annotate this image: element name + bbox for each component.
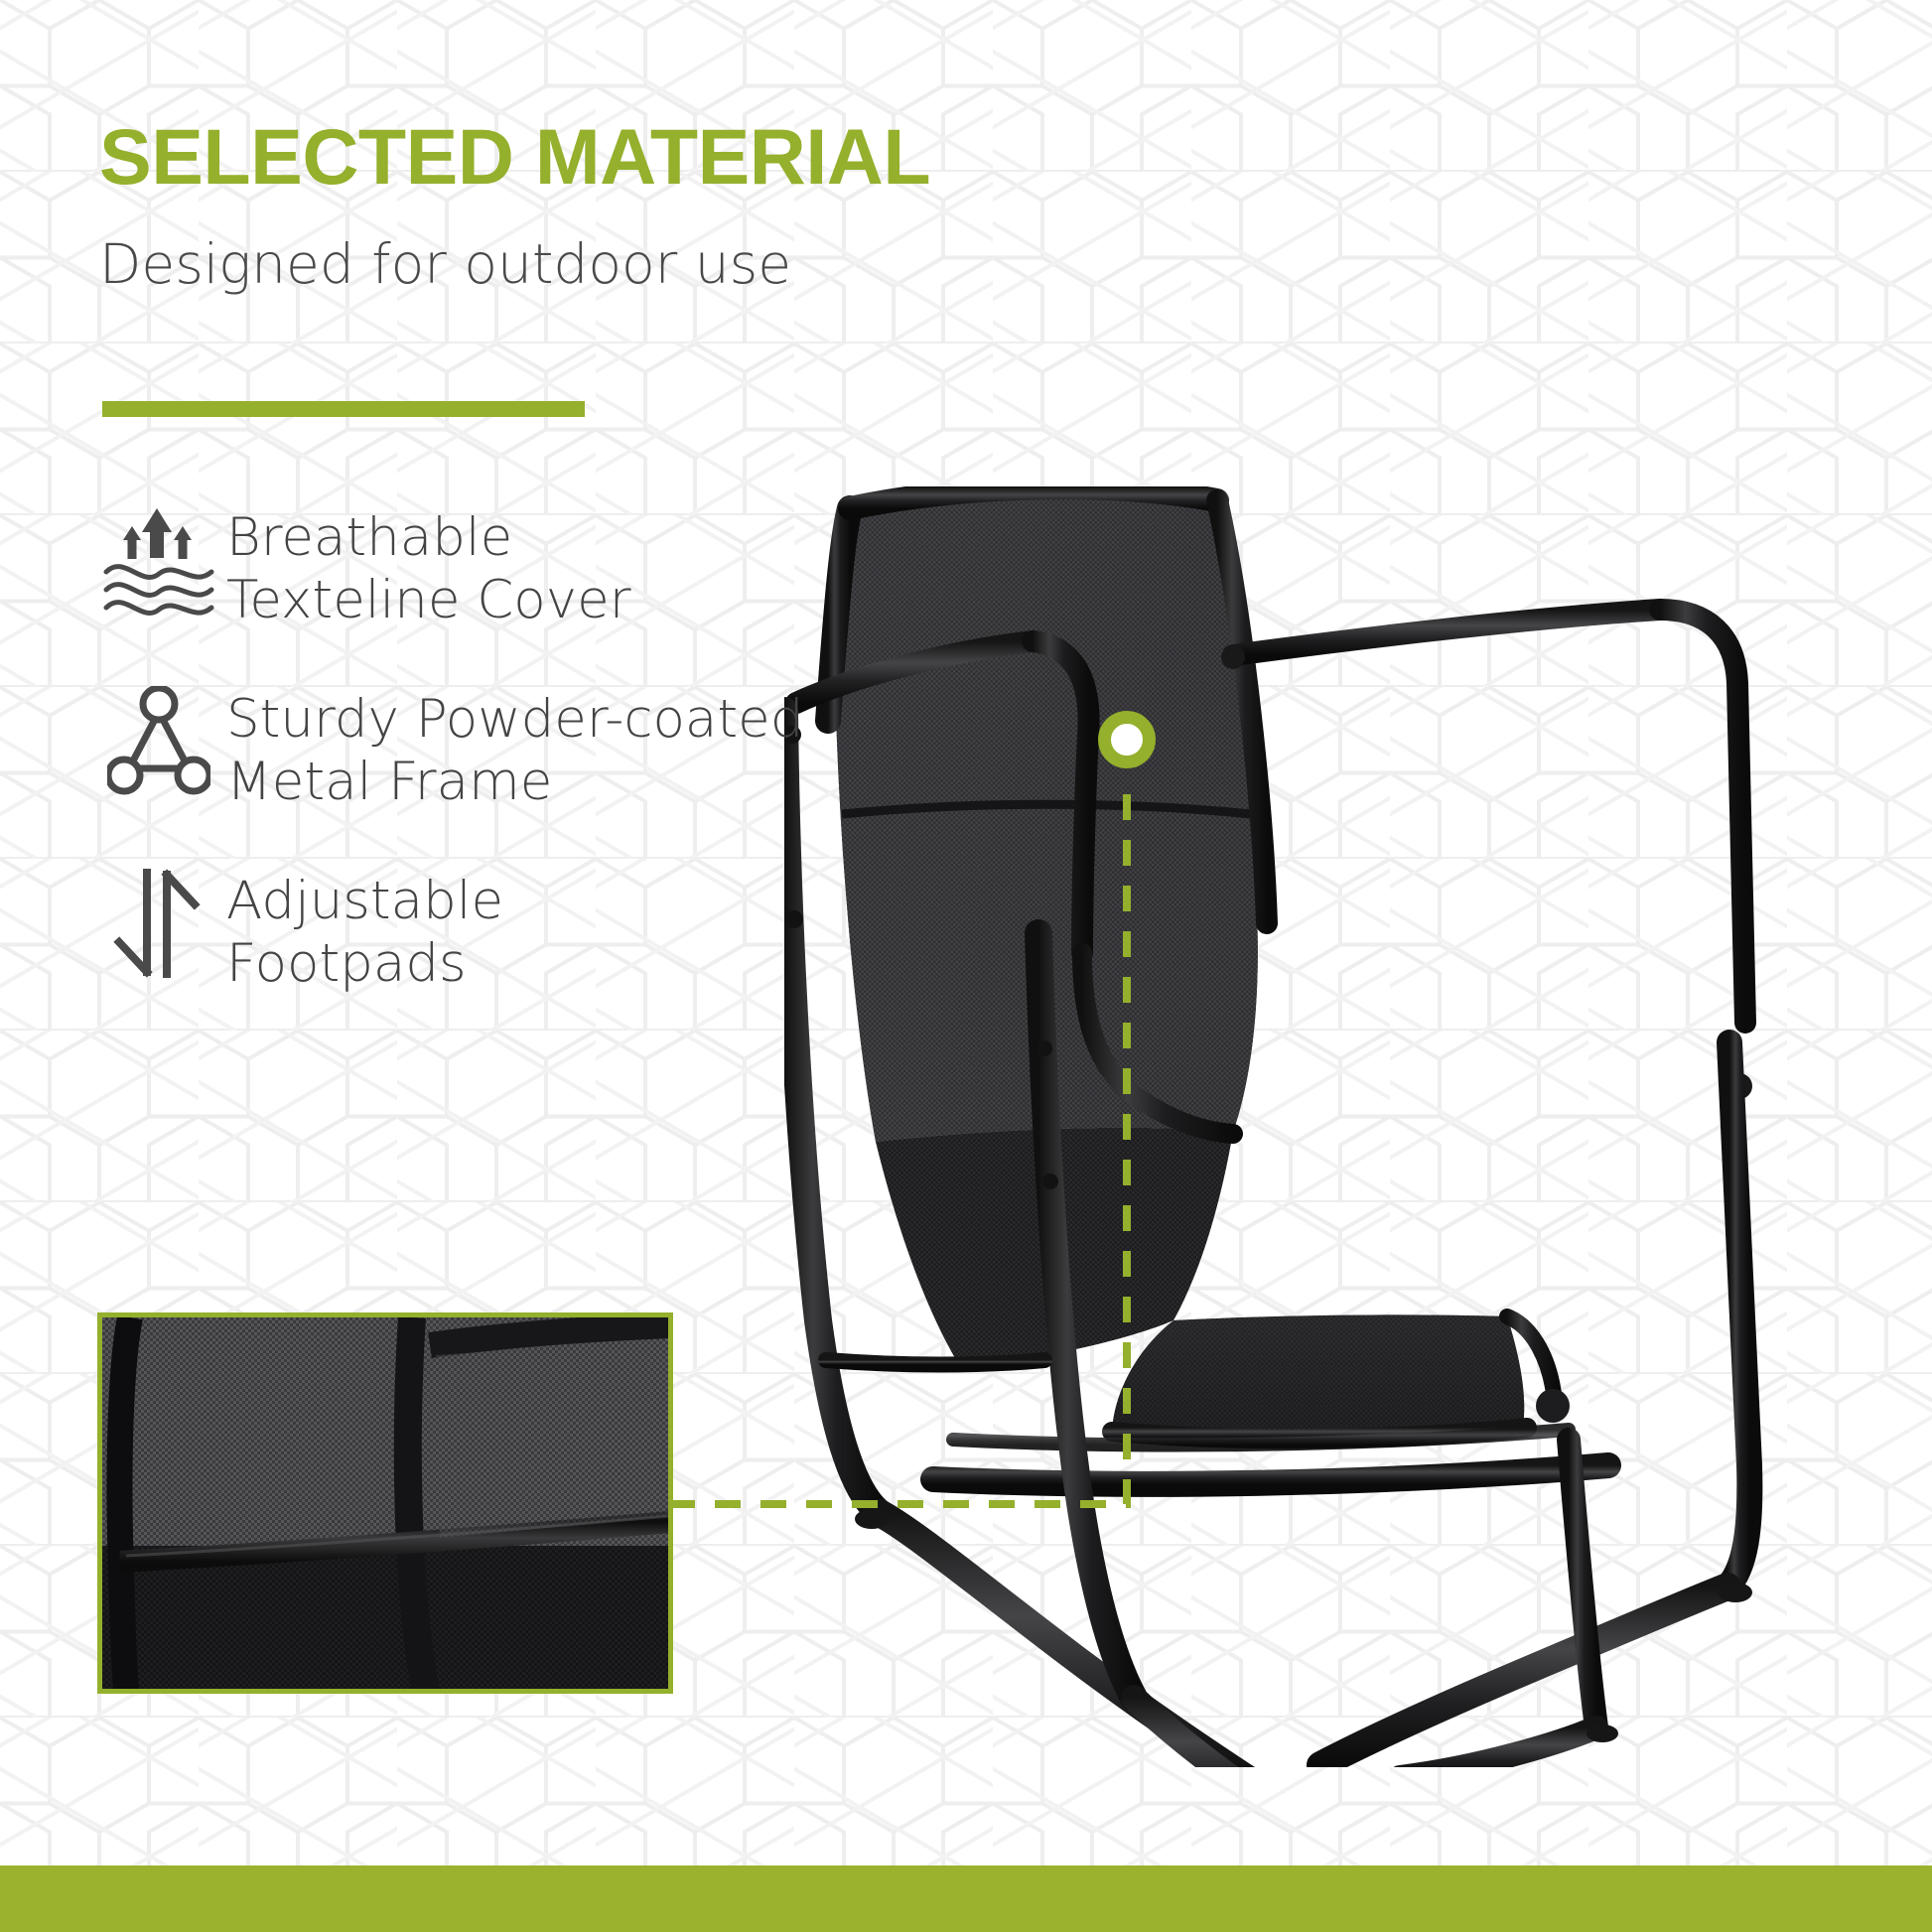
feature-item-metal-frame: Sturdy Powder-coated Metal Frame xyxy=(99,683,913,813)
bottom-accent-bar xyxy=(0,1865,1932,1932)
foot-pad xyxy=(1587,1725,1618,1742)
feature-item-breathable: Breathable Texteline Cover xyxy=(99,501,913,631)
foot-pad xyxy=(1719,1583,1752,1602)
triangle-frame-nodes-icon xyxy=(99,683,218,800)
breathable-airflow-icon xyxy=(99,501,218,619)
product-photo-chair xyxy=(784,486,1886,1767)
foot-pad xyxy=(855,1509,889,1529)
green-ring-marker xyxy=(1098,711,1156,768)
page-title: SELECTED MATERIAL xyxy=(99,117,930,196)
header-block: SELECTED MATERIAL Designed for outdoor u… xyxy=(99,117,930,292)
feature-list: Breathable Texteline Cover Sturdy Powder… xyxy=(99,501,913,1046)
up-down-arrows-icon xyxy=(99,865,218,982)
mesh-fabric-detail-inset xyxy=(97,1312,673,1694)
page-subtitle: Designed for outdoor use xyxy=(99,196,930,292)
feature-item-footpads: Adjustable Footpads xyxy=(99,865,913,995)
feature-label-footpads: Adjustable Footpads xyxy=(218,865,503,995)
infographic-canvas: SELECTED MATERIAL Designed for outdoor u… xyxy=(0,0,1932,1932)
feature-label-breathable: Breathable Texteline Cover xyxy=(218,501,631,631)
feature-label-metal-frame: Sturdy Powder-coated Metal Frame xyxy=(218,683,803,813)
title-underline-rule xyxy=(102,401,585,417)
